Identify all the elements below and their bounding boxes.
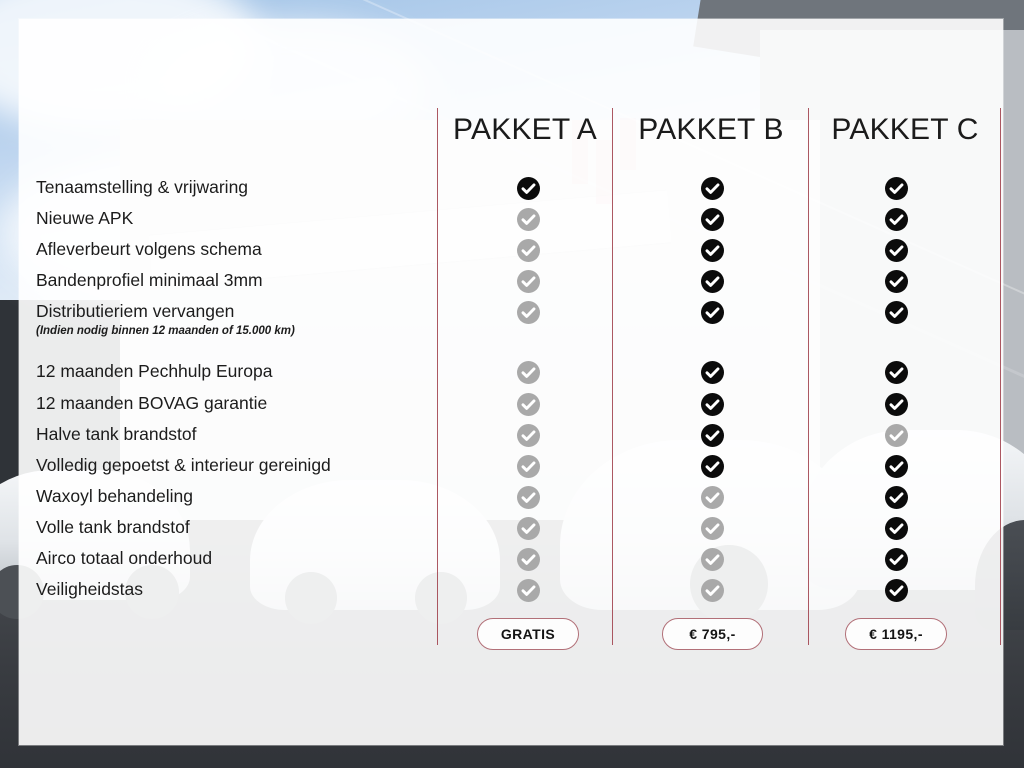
check-a-excluded — [517, 239, 540, 262]
package-comparison-table: PAKKET A PAKKET B PAKKET C Tenaamstellin… — [0, 0, 1024, 768]
check-b-included — [701, 208, 724, 231]
comparison-table-screenshot: PAKKET A PAKKET B PAKKET C Tenaamstellin… — [0, 0, 1024, 768]
check-a-excluded — [517, 548, 540, 571]
check-c-included — [885, 579, 908, 602]
check-b-included — [701, 455, 724, 478]
check-c-included — [885, 270, 908, 293]
feature-label: Tenaamstelling & vrijwaring — [36, 179, 248, 197]
check-a-excluded — [517, 486, 540, 509]
column-divider — [612, 108, 613, 645]
check-a-excluded — [517, 208, 540, 231]
check-c-included — [885, 301, 908, 324]
check-c-included — [885, 455, 908, 478]
check-a-included — [517, 177, 540, 200]
feature-label: Airco totaal onderhoud — [36, 550, 212, 568]
check-c-included — [885, 208, 908, 231]
check-c-included — [885, 177, 908, 200]
check-b-excluded — [701, 486, 724, 509]
check-c-included — [885, 548, 908, 571]
check-c-included — [885, 517, 908, 540]
check-b-excluded — [701, 579, 724, 602]
check-c-included — [885, 239, 908, 262]
check-a-excluded — [517, 301, 540, 324]
check-a-excluded — [517, 517, 540, 540]
check-b-included — [701, 270, 724, 293]
feature-label: Distributieriem vervangen — [36, 303, 234, 321]
check-b-included — [701, 424, 724, 447]
check-a-excluded — [517, 393, 540, 416]
feature-label: Bandenprofiel minimaal 3mm — [36, 272, 263, 290]
check-a-excluded — [517, 361, 540, 384]
column-header-pakket-b: PAKKET B — [613, 113, 809, 147]
column-divider — [808, 108, 809, 645]
check-b-excluded — [701, 517, 724, 540]
column-divider — [1000, 108, 1001, 645]
check-b-included — [701, 393, 724, 416]
check-a-excluded — [517, 270, 540, 293]
price-badge-pakket-b[interactable]: € 795,- — [662, 618, 763, 650]
feature-label: Volle tank brandstof — [36, 519, 190, 537]
price-badge-pakket-c[interactable]: € 1195,- — [845, 618, 947, 650]
check-b-included — [701, 177, 724, 200]
column-header-pakket-a: PAKKET A — [437, 113, 613, 147]
check-b-included — [701, 239, 724, 262]
feature-label: Veiligheidstas — [36, 581, 143, 599]
check-b-included — [701, 301, 724, 324]
feature-note: (Indien nodig binnen 12 maanden of 15.00… — [36, 326, 295, 338]
feature-label: Afleverbeurt volgens schema — [36, 241, 262, 259]
check-c-included — [885, 361, 908, 384]
check-c-included — [885, 393, 908, 416]
feature-label: 12 maanden Pechhulp Europa — [36, 363, 272, 381]
column-divider — [437, 108, 438, 645]
check-b-included — [701, 361, 724, 384]
feature-label: Waxoyl behandeling — [36, 488, 193, 506]
check-a-excluded — [517, 455, 540, 478]
check-a-excluded — [517, 424, 540, 447]
check-c-excluded — [885, 424, 908, 447]
feature-label: Nieuwe APK — [36, 210, 133, 228]
check-c-included — [885, 486, 908, 509]
column-header-pakket-c: PAKKET C — [809, 113, 1001, 147]
check-a-excluded — [517, 579, 540, 602]
feature-label: Halve tank brandstof — [36, 426, 197, 444]
price-badge-pakket-a[interactable]: GRATIS — [477, 618, 579, 650]
feature-label: Volledig gepoetst & interieur gereinigd — [36, 457, 331, 475]
feature-label: 12 maanden BOVAG garantie — [36, 395, 267, 413]
check-b-excluded — [701, 548, 724, 571]
